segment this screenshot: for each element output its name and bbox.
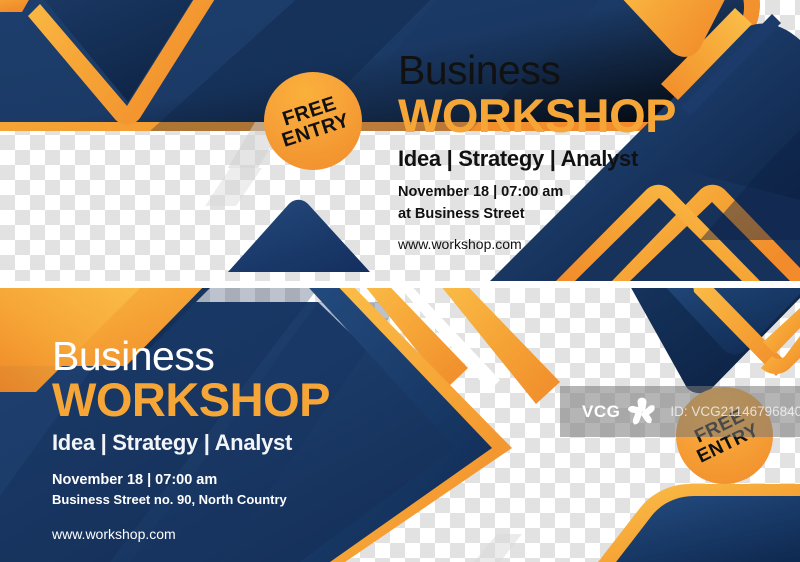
bottom-website-url: www.workshop.com: [52, 524, 176, 545]
vcg-burst-icon: [624, 394, 660, 430]
vcg-watermark-band: VCG ID: VCG211467968404: [560, 386, 800, 437]
free-entry-badge-top[interactable]: FREE ENTRY: [264, 72, 362, 170]
bottom-title-workshop: WORKSHOP: [52, 376, 330, 423]
top-location: at Business Street: [398, 204, 525, 226]
banner-set-canvas: Business WORKSHOP Idea | Strategy | Anal…: [0, 0, 800, 562]
bottom-date-time: November 18 | 07:00 am: [52, 470, 217, 492]
top-title-workshop: WORKSHOP: [398, 92, 676, 139]
top-website-url: www.workshop.com: [398, 234, 522, 255]
top-title-business: Business: [398, 50, 560, 91]
vcg-image-id: ID: VCG211467968404: [670, 404, 800, 419]
bottom-tagline: Idea | Strategy | Analyst: [52, 432, 292, 454]
top-banner: Business WORKSHOP Idea | Strategy | Anal…: [0, 0, 800, 281]
vcg-logo: VCG: [582, 394, 660, 430]
bottom-title-business: Business: [52, 336, 214, 377]
top-tagline: Idea | Strategy | Analyst: [398, 148, 638, 170]
top-date-time: November 18 | 07:00 am: [398, 182, 563, 204]
vcg-wordmark: VCG: [582, 402, 620, 422]
bottom-location: Business Street no. 90, North Country: [52, 490, 287, 510]
